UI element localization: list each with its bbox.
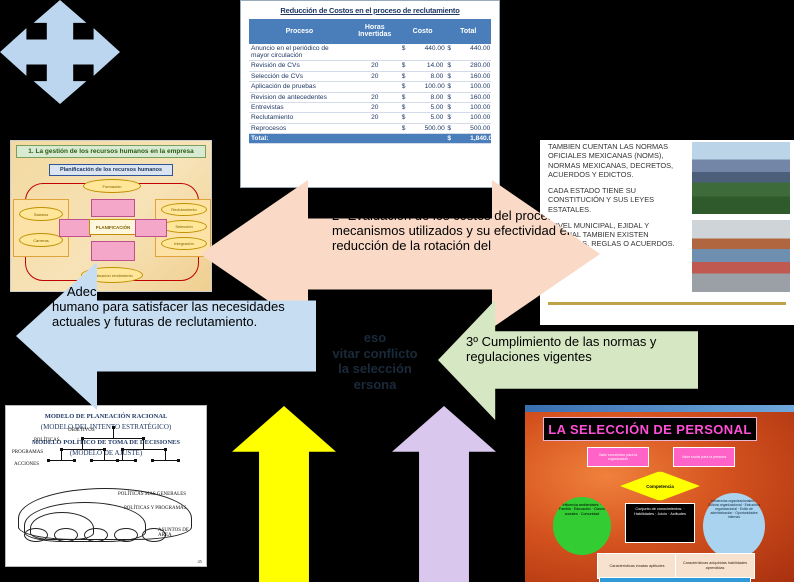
community-assembly-photo [692, 220, 790, 292]
cell-total-currency: $ [445, 61, 468, 71]
normas-text-panel: TAMBIEN CUENTAN LAS NORMAS OFICIALES MEX… [540, 140, 794, 325]
col-total: Total [445, 19, 491, 44]
cell-total-label: Total: [249, 134, 350, 144]
cell-proceso: Reclutamiento [249, 113, 350, 123]
planning-models-image: MODELO DE PLANEACIÓN RACIONAL OBJETIVOS … [5, 405, 207, 567]
cost-table-title: Reducción de Costos en el proceso de rec… [241, 1, 499, 19]
cell-grand-total: 1,840.00 [468, 134, 491, 144]
plan-edge [48, 460, 74, 461]
cell-costo-currency: $ [400, 44, 423, 61]
selection-tag-economic: Valor económico para la organización [587, 447, 649, 467]
hr-pink-4 [91, 241, 135, 261]
cell-total-currency: $ [445, 123, 468, 133]
cell-total: 100.00 [468, 113, 491, 123]
cell-costo: 100.00 [423, 82, 446, 92]
cell-total-currency: $ [445, 102, 468, 112]
arrow-step-3-label: 3º Cumplimiento de las normas y regulaci… [466, 334, 680, 364]
hr-node-salarios: Salarios [19, 207, 63, 221]
hr-node-seleccion: Selección [161, 220, 207, 233]
plan-edge [143, 438, 144, 449]
plan-edge [61, 449, 62, 460]
plan-node [47, 459, 50, 462]
table-row: Reclutamiento20$5.00$100.00 [249, 113, 491, 123]
cell-proceso: Revisión de CVs [249, 61, 350, 71]
cell-costo-currency: $ [400, 113, 423, 123]
plan-page-number: 45 [198, 559, 203, 564]
hr-planning-box: Planificación de los recursos humanos [49, 164, 173, 176]
plan-edge [165, 449, 166, 460]
cell-total: 160.00 [468, 71, 491, 81]
normas-photo-column [692, 140, 794, 298]
cell-costo: 8.00 [423, 71, 446, 81]
cell-proceso: Selección de CVs [249, 71, 350, 81]
cell-total: 280.00 [468, 61, 491, 71]
hr-pink-3 [135, 219, 167, 237]
selection-title: LA SELECCIÓN DE PERSONAL [543, 417, 757, 441]
plan-edge [122, 449, 166, 450]
plan-title-rational: MODELO DE PLANEACIÓN RACIONAL [6, 413, 206, 420]
cell-costo: 440.00 [423, 44, 446, 61]
cell-horas: 20 [350, 71, 400, 81]
table-row: Revision de antecedentes20$8.00$160.00 [249, 92, 491, 102]
cell-total-currency: $ [445, 92, 468, 102]
hr-pink-1 [91, 199, 135, 217]
table-row: Selección de CVs20$8.00$160.00 [249, 71, 491, 81]
table-row: Aplicación de pruebas$100.00$100.00 [249, 82, 491, 92]
hr-core-planificacion: PLANIFICACIÓN [89, 219, 137, 235]
cell-proceso: Anuncio en el periódico de mayor circula… [249, 44, 350, 61]
plan-edge [109, 460, 135, 461]
table-total-row: Total:$1,840.00 [249, 134, 491, 144]
cell-grand-currency: $ [445, 134, 468, 144]
table-row: Entrevistas20$5.00$100.00 [249, 102, 491, 112]
cell-total: 440.00 [468, 44, 491, 61]
plan-bubble [84, 528, 108, 542]
normas-paragraph-1: TAMBIEN CUENTAN LAS NORMAS OFICIALES MEX… [548, 142, 688, 179]
cell-total: 100.00 [468, 82, 491, 92]
cell-horas [350, 82, 400, 92]
hr-management-diagram-image: 1. La gestión de los recursos humanos en… [10, 140, 212, 292]
plan-label-politicas: POLÍTICAS [34, 438, 60, 443]
plan-node [177, 459, 180, 462]
cell-costo-currency: $ [400, 82, 423, 92]
selection-diamond-competencia: Competencia [620, 471, 700, 501]
selection-acquired-box: Características adquiridas habilidades a… [675, 553, 755, 579]
table-row: Reprocesos$500.00$500.00 [249, 123, 491, 133]
table-row: Anuncio en el periódico de mayor circula… [249, 44, 491, 61]
cell-total: 160.00 [468, 92, 491, 102]
cell-total-currency: $ [445, 113, 468, 123]
plan-edge [82, 438, 83, 449]
cell-proceso: Revision de antecedentes [249, 92, 350, 102]
plan-edge [152, 460, 178, 461]
plan-label-politicas-generales: POLÍTICAS MAS GENERALES [118, 492, 204, 497]
cell-total-currency: $ [445, 82, 468, 92]
plan-bubble [54, 528, 78, 542]
plan-edge [82, 438, 144, 439]
plan-label-programas: PROGRAMAS [12, 450, 43, 455]
selection-circle-organizational: Influencias organizacionales: · Cultura … [703, 493, 765, 559]
table-row: Revisión de CVs20$14.00$280.00 [249, 61, 491, 71]
center-four-way-arrow [0, 0, 120, 104]
plan-node [134, 459, 137, 462]
center-label: eso vitar conflicto la selección ersona [300, 330, 450, 392]
cell-proceso: Aplicación de pruebas [249, 82, 350, 92]
cell-costo: 8.00 [423, 92, 446, 102]
cell-horas: 20 [350, 61, 400, 71]
col-horas: Horas Invertidas [350, 19, 400, 44]
plan-edge [104, 449, 105, 460]
cell-costo: 5.00 [423, 113, 446, 123]
plan-title-strategic: (MODELO DEL INTENTO ESTRATÉGICO) [6, 423, 206, 431]
arrow-step-eficiencia-label: mentar ciencia ganiza [374, 450, 542, 495]
arrow-step-politicas-label: ación o s político presa. [204, 450, 374, 495]
personnel-selection-image: LA SELECCIÓN DE PERSONAL Valor económico… [525, 405, 794, 582]
hr-node-integracion: Integración [161, 237, 207, 250]
cell-total: 100.00 [468, 102, 491, 112]
col-costo: Costo [400, 19, 446, 44]
mountain-village-photo [692, 142, 790, 214]
col-proceso: Proceso [249, 19, 350, 44]
table-header-row: Proceso Horas Invertidas Costo Total [249, 19, 491, 44]
cell-costo: 5.00 [423, 102, 446, 112]
cell-costo-currency: $ [400, 61, 423, 71]
cell-costo-currency: $ [400, 123, 423, 133]
cost-table: Proceso Horas Invertidas Costo Total Anu… [249, 19, 491, 144]
cell-horas: 20 [350, 92, 400, 102]
hr-pink-2 [59, 219, 91, 237]
selection-top-bar [525, 405, 794, 412]
cell-costo-currency: $ [400, 92, 423, 102]
hr-node-reclutamiento: Reclutamiento [161, 203, 207, 216]
normas-paragraph-2: CADA ESTADO TIENE SU CONSTITUCIÓN Y SUS … [548, 186, 688, 214]
cell-costo-currency: $ [400, 71, 423, 81]
cell-horas: 20 [350, 102, 400, 112]
cell-total-currency: $ [445, 44, 468, 61]
plan-node [90, 459, 93, 462]
selection-circle-environment: Influencia ambientales: · Familia · Educ… [553, 497, 611, 555]
normas-divider [548, 302, 786, 305]
hr-diagram-caption: 1. La gestión de los recursos humanos en… [16, 145, 206, 158]
selection-process-bar: Proceso [599, 577, 751, 582]
cell-costo-currency: $ [400, 102, 423, 112]
cell-costo: 14.00 [423, 61, 446, 71]
selection-tag-social: Valor social para la persona [673, 447, 735, 467]
plan-label-politicas-programas: POLÍTICAS Y PROGRAMAS [124, 506, 196, 511]
plan-label-acciones: ACCIONES [14, 462, 39, 467]
cell-proceso: Reprocesos [249, 123, 350, 133]
plan-edge [122, 449, 123, 460]
cost-reduction-table-card: Reducción de Costos en el proceso de rec… [240, 0, 500, 188]
slide-canvas: Reducción de Costos en el proceso de rec… [0, 0, 794, 582]
cell-total: 500.00 [468, 123, 491, 133]
plan-node [151, 459, 154, 462]
plan-edge [113, 428, 114, 438]
cell-total-currency: $ [445, 71, 468, 81]
selection-innate-box: Características innatas aptitudes [597, 553, 677, 579]
arrow-step-politicas: ación o s político presa. [232, 406, 336, 582]
hr-node-carreras: Carreras [19, 233, 63, 247]
plan-edge [61, 449, 105, 450]
arrow-step-eficiencia: mentar ciencia ganiza [392, 406, 496, 582]
plan-node [73, 459, 76, 462]
plan-bubble [114, 528, 138, 542]
cell-horas [350, 123, 400, 133]
plan-label-objetivos: OBJETIVOS [68, 428, 95, 433]
plan-label-asuntos-area: ASUNTOS DE AREA [158, 528, 202, 538]
cell-costo: 500.00 [423, 123, 446, 133]
cell-horas: 20 [350, 113, 400, 123]
plan-bubble [24, 528, 48, 542]
hr-node-formacion: Formación [83, 179, 141, 193]
cost-table-body: Anuncio en el periódico de mayor circula… [249, 44, 491, 144]
plan-node [116, 459, 119, 462]
cell-horas [350, 44, 400, 61]
cell-proceso: Entrevistas [249, 102, 350, 112]
selection-knowledge-box: Conjunto de conocimientos: · Habilidades… [625, 503, 695, 543]
